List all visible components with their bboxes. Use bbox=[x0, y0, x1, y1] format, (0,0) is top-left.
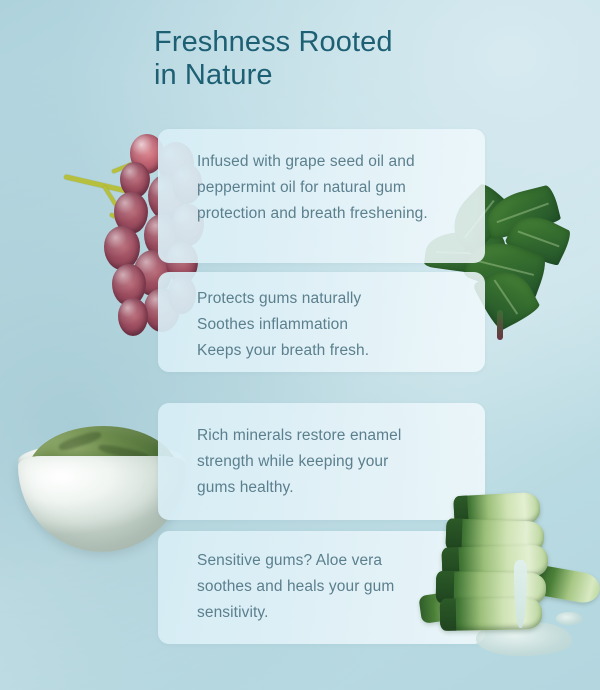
page-title-line-1: Freshness Rooted bbox=[154, 26, 514, 59]
page-title: Freshness Rooted in Nature bbox=[154, 26, 514, 92]
info-card-4: Sensitive gums? Aloe vera soothes and he… bbox=[158, 531, 485, 644]
info-card-1: Infused with grape seed oil and peppermi… bbox=[158, 129, 485, 263]
info-card-3: Rich minerals restore enamel strength wh… bbox=[158, 403, 485, 520]
info-card-3-text: Rich minerals restore enamel strength wh… bbox=[197, 423, 469, 501]
info-card-2-text: Protects gums naturally Soothes inflamma… bbox=[197, 286, 469, 364]
infographic-canvas: Freshness Rooted in Nature Infu bbox=[0, 0, 600, 690]
info-card-4-text: Sensitive gums? Aloe vera soothes and he… bbox=[197, 548, 469, 626]
info-card-1-text: Infused with grape seed oil and peppermi… bbox=[197, 149, 469, 227]
page-title-line-2: in Nature bbox=[154, 59, 514, 92]
info-card-2: Protects gums naturally Soothes inflamma… bbox=[158, 272, 485, 372]
